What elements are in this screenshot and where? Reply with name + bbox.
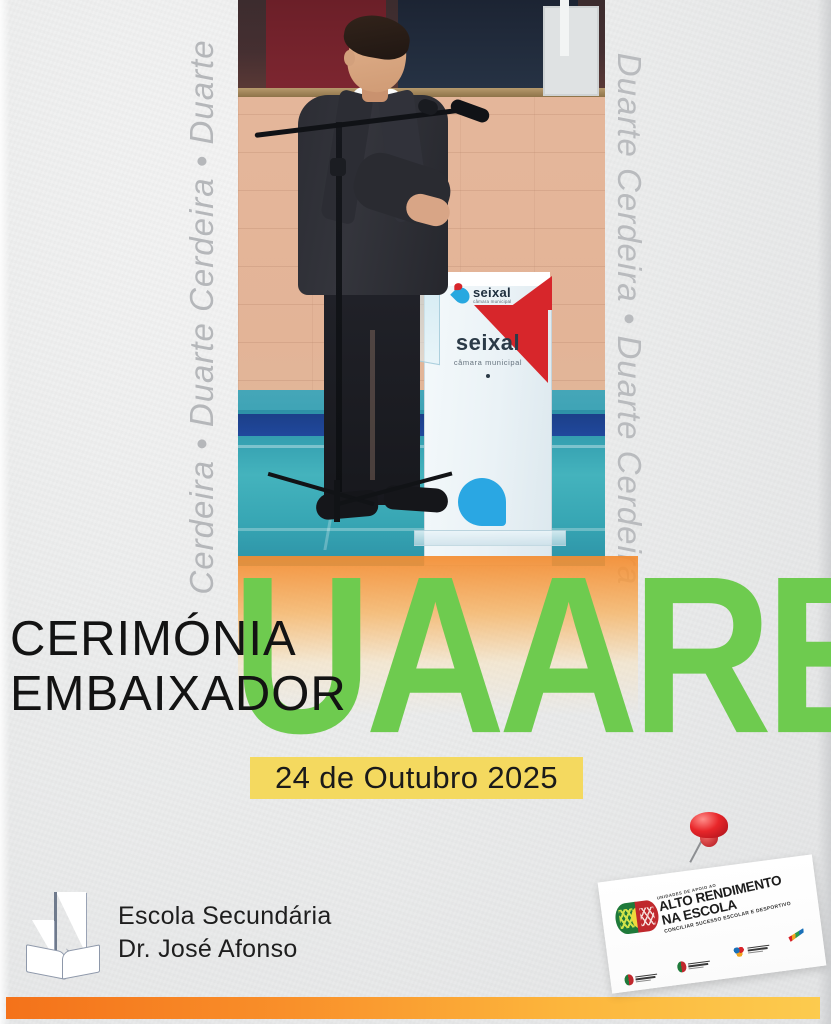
- school-logo-block: Escola Secundária Dr. José Afonso: [24, 890, 332, 976]
- podium-header-sub: câmara municipal: [473, 299, 511, 304]
- photo-backboard: [543, 6, 599, 96]
- podium-top-edge: [434, 272, 550, 286]
- podium-brand-sub: câmara municipal: [424, 358, 552, 367]
- watermark-left: Cerdeira • Duarte Cerdeira • Duarte: [183, 0, 221, 637]
- microphone-base-stem: [334, 480, 340, 522]
- olympic-rings-icon: [733, 945, 746, 957]
- sailboat-book-icon: [24, 890, 100, 976]
- podium-blue-shape: [458, 478, 506, 526]
- podium-header-brand: seixal: [473, 286, 511, 299]
- speaker-leg-gap: [370, 330, 375, 480]
- swoosh-icon: [787, 928, 804, 942]
- logo-text-lines: [635, 973, 658, 982]
- microphone-knob: [330, 158, 346, 176]
- date-banner: 24 de Outubro 2025: [250, 757, 583, 799]
- podium-brand: seixal: [424, 330, 552, 356]
- card-text-block: UNIDADES DE APOIO AO ALTO RENDIMENTO NA …: [656, 863, 813, 935]
- podium-front-logo: seixal câmara municipal: [424, 330, 552, 378]
- podium-header-logo: seixal câmara municipal: [454, 286, 511, 304]
- title-line-2: EMBAIXADOR: [10, 667, 347, 722]
- emblem-red-half-icon: [634, 899, 660, 933]
- left-edge-shadow: [0, 0, 10, 1024]
- title-block: CERIMÓNIA EMBAIXADOR: [10, 612, 347, 722]
- card-partner-logos: [618, 934, 820, 986]
- photo-ceiling-pole: [560, 0, 569, 56]
- republica-portuguesa-logo-2: [677, 958, 711, 973]
- partner-logo-rings: [733, 942, 770, 958]
- footer-orange-bar: [6, 997, 820, 1019]
- partner-logo-swoosh: [787, 928, 804, 942]
- school-name: Escola Secundária Dr. José Afonso: [118, 900, 332, 966]
- logo-text-lines: [747, 944, 770, 953]
- water-drop-accent-icon: [454, 283, 462, 290]
- pin-cap-icon: [690, 812, 728, 838]
- school-name-line-1: Escola Secundária: [118, 900, 332, 933]
- portugal-shield-icon: [677, 961, 687, 973]
- book-page-right-icon: [62, 944, 100, 979]
- right-edge-shadow: [817, 0, 831, 1024]
- event-photo: seixal câmara municipal seixal câmara mu…: [238, 0, 605, 566]
- podium-dot-icon: [486, 374, 490, 378]
- logo-text-lines: [688, 960, 711, 969]
- push-pin-icon: [688, 812, 728, 854]
- portugal-shield-icon: [624, 974, 634, 986]
- speaker-ear: [344, 50, 355, 66]
- republica-portuguesa-logo-1: [624, 971, 658, 986]
- water-drop-icon: [450, 284, 473, 307]
- date-text: 24 de Outubro 2025: [275, 760, 558, 796]
- title-line-1: CERIMÓNIA: [10, 612, 347, 667]
- microphone-pole: [336, 122, 342, 492]
- uaare-program-card: UNIDADES DE APOIO AO ALTO RENDIMENTO NA …: [598, 854, 827, 993]
- poster-canvas: seixal câmara municipal seixal câmara mu…: [0, 0, 831, 1024]
- school-name-line-2: Dr. José Afonso: [118, 933, 332, 966]
- uaare-emblem-icon: [613, 897, 659, 938]
